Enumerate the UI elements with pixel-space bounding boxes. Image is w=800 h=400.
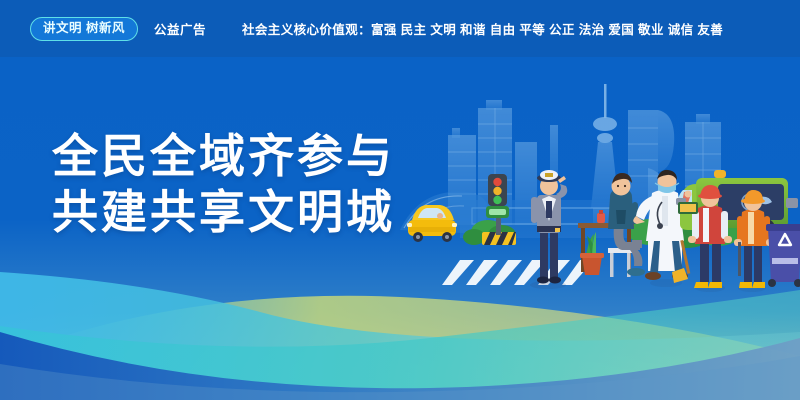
top-banner-bar: 讲文明 树新风 公益广告 社会主义核心价值观：富强 民主 文明 和谐 自由 平等… <box>0 0 800 57</box>
headline-line-1: 全民全域齐参与 <box>52 128 395 184</box>
campaign-badge: 讲文明 树新风 <box>30 17 138 41</box>
public-service-ad-label: 公益广告 <box>154 19 206 38</box>
core-socialist-values-text: 社会主义核心价值观：富强 民主 文明 和谐 自由 平等 公正 法治 爱国 敬业 … <box>242 19 723 38</box>
headline-block: 全民全域齐参与 共建共享文明城 <box>52 128 395 240</box>
campaign-badge-label: 讲文明 树新风 <box>43 22 125 35</box>
poster-canvas: 讲文明 树新风 公益广告 社会主义核心价值观：富强 民主 文明 和谐 自由 平等… <box>0 0 800 400</box>
decorative-waves <box>0 260 800 400</box>
headline-line-2: 共建共享文明城 <box>52 184 395 240</box>
